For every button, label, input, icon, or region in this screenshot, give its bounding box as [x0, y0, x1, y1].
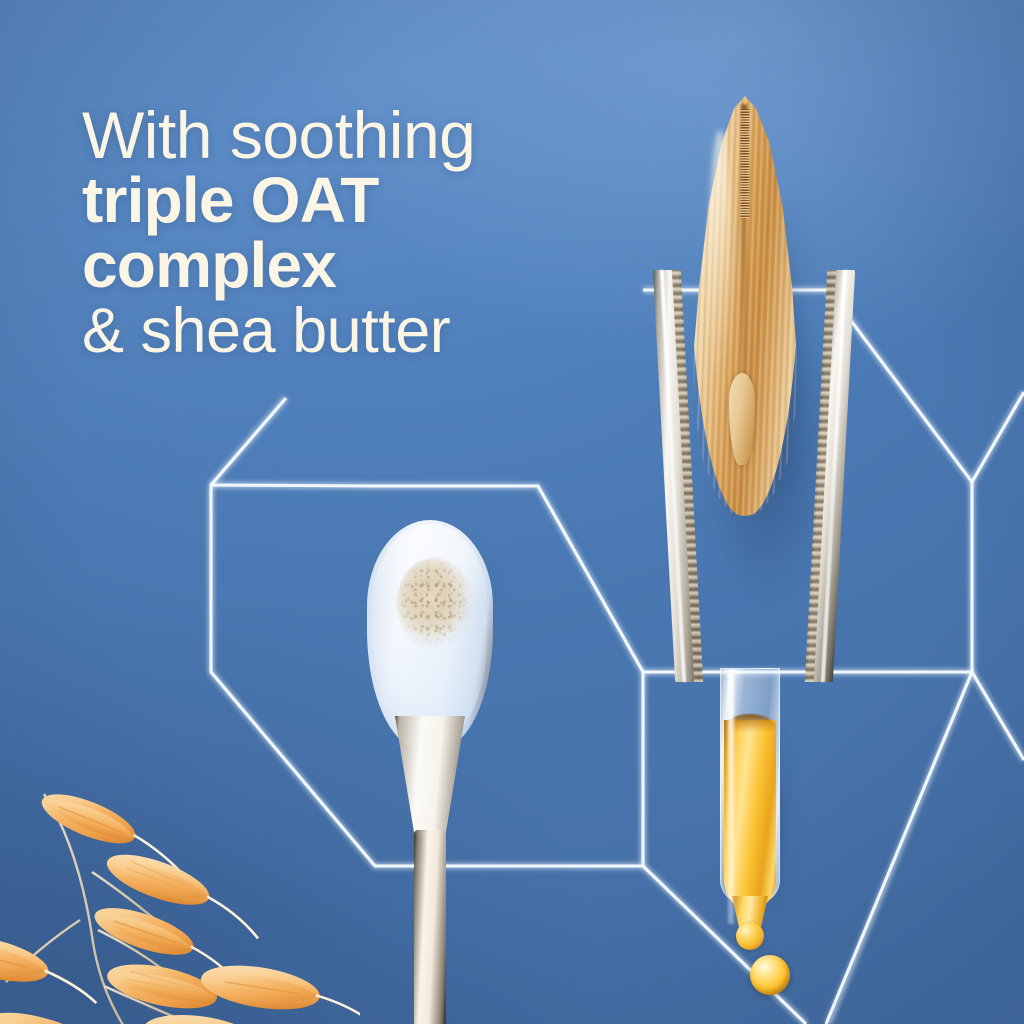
headline-line-1: With soothing: [82, 104, 682, 167]
oat-spikelet: [0, 926, 105, 1004]
oat-spikelet: [103, 956, 220, 1016]
oat-plant-spikelets: [0, 760, 360, 1024]
pipette-oil-bead: [736, 922, 764, 950]
oat-spikelet: [141, 1008, 315, 1024]
oat-spikelet: [0, 1002, 161, 1024]
headline-line-3: complex: [82, 235, 682, 296]
oat-spikelet-group: [0, 784, 360, 1024]
oat-grain: [690, 96, 800, 516]
headline-line-4: & shea butter: [82, 301, 682, 361]
oat-grain-tip-ridge: [741, 109, 750, 218]
oat-grain-highlight: [708, 130, 732, 432]
oil-pipette: [716, 668, 794, 968]
headline-block: With soothing triple OAT complex & shea …: [82, 104, 682, 362]
oat-spikelet: [198, 958, 360, 1024]
falling-oil-droplet: [750, 955, 790, 995]
product-visual-canvas: With soothing triple OAT complex & shea …: [0, 0, 1024, 1024]
spoon-handle: [414, 830, 446, 1024]
headline-line-2: triple OAT: [82, 170, 682, 231]
glass-spoon: [355, 520, 505, 1024]
pipette-glass-highlight: [728, 674, 734, 924]
oat-powder-texture: [387, 548, 483, 670]
spoon-neck: [395, 716, 465, 836]
